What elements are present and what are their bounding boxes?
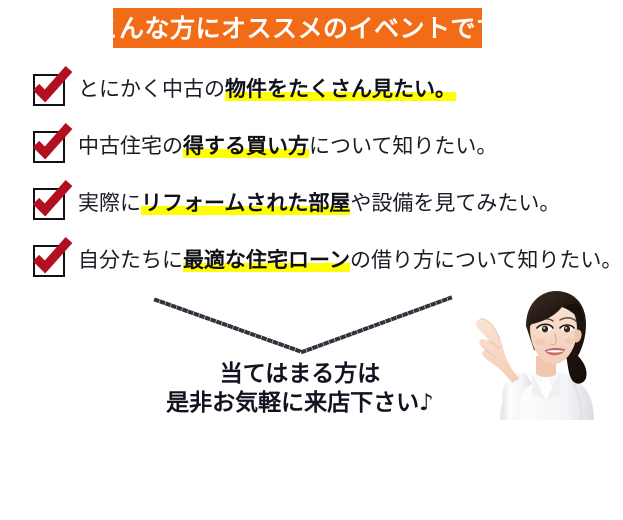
checkbox-checked[interactable] (33, 74, 69, 110)
dotted-chevron-down-icon (150, 292, 460, 362)
checkbox-checked[interactable] (33, 188, 69, 224)
page-title: こんな方にオススメのイベントです (94, 16, 502, 41)
checklist-item[interactable]: とにかく中古の物件をたくさん見たい。 (0, 64, 623, 121)
checklist-item[interactable]: 自分たちに最適な住宅ローンの借り方について知りたい。 (0, 235, 623, 292)
check-mark-icon (32, 238, 74, 280)
checklist-item-highlight: リフォームされた部屋 (141, 191, 350, 215)
checklist-item-lead: とにかく中古の (78, 77, 225, 101)
promo-flyer: こんな方にオススメのイベントです とにかく中古の物件をたくさん見たい。 (0, 0, 623, 520)
cheek-blush (565, 338, 575, 344)
checklist-item-text: とにかく中古の物件をたくさん見たい。 (78, 74, 456, 104)
checklist: とにかく中古の物件をたくさん見たい。 中古住宅の得する買い方について知りたい。 (0, 64, 623, 292)
check-mark-icon (32, 124, 74, 166)
checklist-item-highlight: 得する買い方 (183, 134, 309, 158)
checkbox-checked[interactable] (33, 245, 69, 281)
header-banner: こんな方にオススメのイベントです (113, 8, 482, 48)
checklist-item-lead: 中古住宅の (78, 134, 183, 158)
checklist-item[interactable]: 中古住宅の得する買い方について知りたい。 (0, 121, 623, 178)
checklist-item-tail: について知りたい。 (309, 134, 497, 158)
checklist-item-lead: 自分たちに (78, 248, 183, 272)
checklist-item[interactable]: 実際にリフォームされた部屋や設備を見てみたい。 (0, 178, 623, 235)
checklist-item-text: 自分たちに最適な住宅ローンの借り方について知りたい。 (78, 245, 622, 275)
checklist-item-lead: 実際に (78, 191, 141, 215)
checkbox-checked[interactable] (33, 131, 69, 167)
cheek-blush (535, 339, 545, 345)
check-mark-icon (32, 181, 74, 223)
checklist-item-tail: や設備を見てみたい。 (350, 191, 560, 215)
checklist-item-tail: の借り方について知りたい。 (350, 248, 622, 272)
checklist-item-highlight: 物件をたくさん見たい。 (225, 77, 456, 101)
checklist-item-highlight: 最適な住宅ローン (183, 248, 350, 272)
woman-pointing-up-photo (462, 288, 612, 420)
checklist-item-text: 中古住宅の得する買い方について知りたい。 (78, 131, 497, 161)
check-mark-icon (32, 67, 74, 109)
checklist-item-text: 実際にリフォームされた部屋や設備を見てみたい。 (78, 188, 560, 218)
